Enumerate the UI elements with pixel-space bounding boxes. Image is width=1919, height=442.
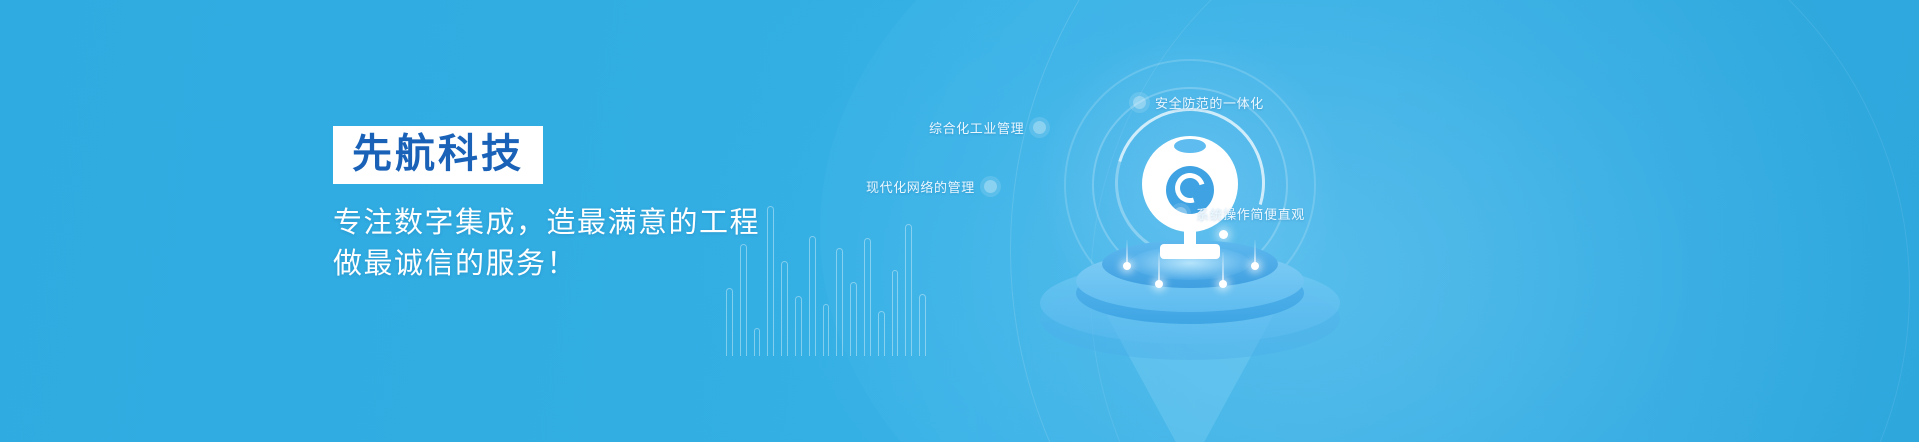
waveform-bar: [726, 288, 733, 356]
waveform-bar: [892, 270, 899, 356]
node-dot-icon: [984, 180, 997, 193]
waveform-bar: [850, 282, 857, 356]
node-dot-icon: [1174, 207, 1187, 220]
light-pillar: [1254, 240, 1256, 266]
node-dot-icon: [1133, 96, 1146, 109]
waveform-bar: [919, 294, 926, 356]
waveform-bar: [905, 224, 912, 356]
platform-disc-mid-rim: [1076, 262, 1304, 324]
waveform-bar: [823, 304, 830, 356]
feature-label-1: 综合化工业管理: [929, 118, 1046, 137]
waveform-bar: [864, 238, 871, 356]
platform-disc-outer: [1040, 262, 1340, 344]
waveform-bar: [754, 328, 761, 356]
subtitle-line-2: 做最诚信的服务！: [333, 244, 853, 285]
waveform-bar: [795, 296, 802, 356]
feature-label-0: 安全防范的一体化: [1133, 93, 1264, 112]
camera-illustration: [930, 24, 1450, 442]
feature-label-3: 系统操作简便直观: [1174, 204, 1305, 223]
light-beam: [1094, 292, 1286, 442]
feature-label-2: 现代化网络的管理: [866, 177, 997, 196]
feature-label-3-text: 系统操作简便直观: [1196, 204, 1305, 223]
node-dot-icon: [1033, 121, 1046, 134]
platform-disc-outer-rim: [1040, 278, 1340, 360]
hero-banner: 先航科技 专注数字集成，造最满意的工程 做最诚信的服务！: [0, 0, 1919, 442]
hero-text-block: 先航科技 专注数字集成，造最满意的工程 做最诚信的服务！: [333, 126, 853, 285]
subtitle-line-1: 专注数字集成，造最满意的工程: [333, 203, 853, 244]
camera-notch: [1174, 139, 1206, 153]
feature-label-2-text: 现代化网络的管理: [866, 177, 975, 196]
brand-title: 先航科技: [352, 133, 524, 175]
light-pillar: [1126, 240, 1128, 266]
waveform-bar: [878, 311, 885, 356]
hero-subtitle: 专注数字集成，造最满意的工程 做最诚信的服务！: [333, 203, 853, 285]
feature-label-1-text: 综合化工业管理: [929, 118, 1024, 137]
camera-base: [1160, 244, 1220, 259]
security-camera-icon: [1142, 136, 1238, 262]
brand-title-box: 先航科技: [333, 126, 543, 184]
feature-label-0-text: 安全防范的一体化: [1155, 93, 1264, 112]
